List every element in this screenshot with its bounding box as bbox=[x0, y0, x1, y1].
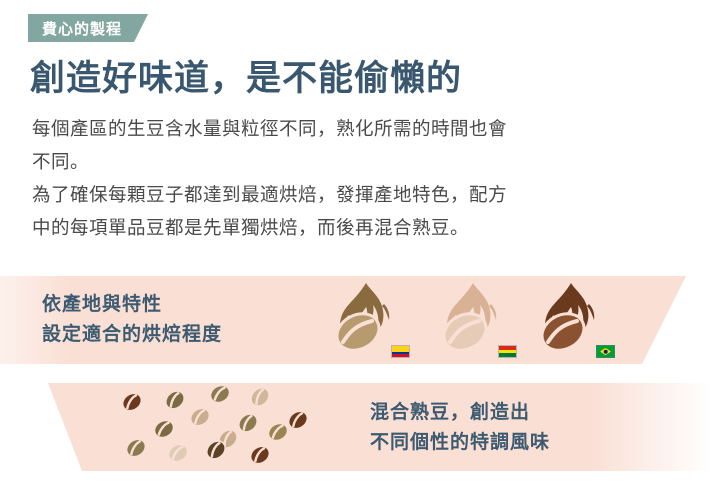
section-badge: 費心的製程 bbox=[28, 14, 148, 42]
roast-icon-colombia bbox=[322, 280, 414, 360]
roast-icon-brazil bbox=[527, 280, 619, 360]
blend-banner-line-1: 混合熟豆，創造出 bbox=[370, 398, 550, 428]
roast-banner-line-1: 依產地與特性 bbox=[42, 290, 222, 320]
roast-icon-bolivia bbox=[429, 280, 521, 360]
body-paragraph-3: 為了確保每顆豆子都達到最適烘焙，發揮產地特色，配方 bbox=[32, 178, 672, 211]
roast-icon-group bbox=[322, 280, 622, 360]
section-badge-wrapper: 費心的製程 bbox=[28, 14, 148, 42]
brazil-flag-icon bbox=[596, 345, 615, 358]
colombia-flag-icon bbox=[391, 345, 410, 358]
blend-banner-line-2: 不同個性的特調風味 bbox=[370, 428, 550, 458]
blend-banner-text: 混合熟豆，創造出 不同個性的特調風味 bbox=[370, 398, 550, 458]
body-paragraph-1: 每個產區的生豆含水量與粒徑不同，熟化所需的時間也會 bbox=[32, 112, 672, 145]
body-paragraph-4: 中的每項單品豆都是先單獨烘焙，而後再混合熟豆。 bbox=[32, 211, 672, 244]
roast-banner-line-2: 設定適合的烘焙程度 bbox=[42, 320, 222, 350]
body-copy: 每個產區的生豆含水量與粒徑不同，熟化所需的時間也會 不同。 為了確保每顆豆子都達… bbox=[32, 112, 672, 244]
coffee-beans-icon bbox=[120, 385, 330, 470]
page-title: 創造好味道，是不能偷懶的 bbox=[30, 50, 462, 101]
bolivia-flag-icon bbox=[498, 345, 517, 358]
body-paragraph-2: 不同。 bbox=[32, 145, 672, 178]
roast-banner-text: 依產地與特性 設定適合的烘焙程度 bbox=[42, 290, 222, 350]
scattered-coffee-beans bbox=[120, 385, 330, 470]
